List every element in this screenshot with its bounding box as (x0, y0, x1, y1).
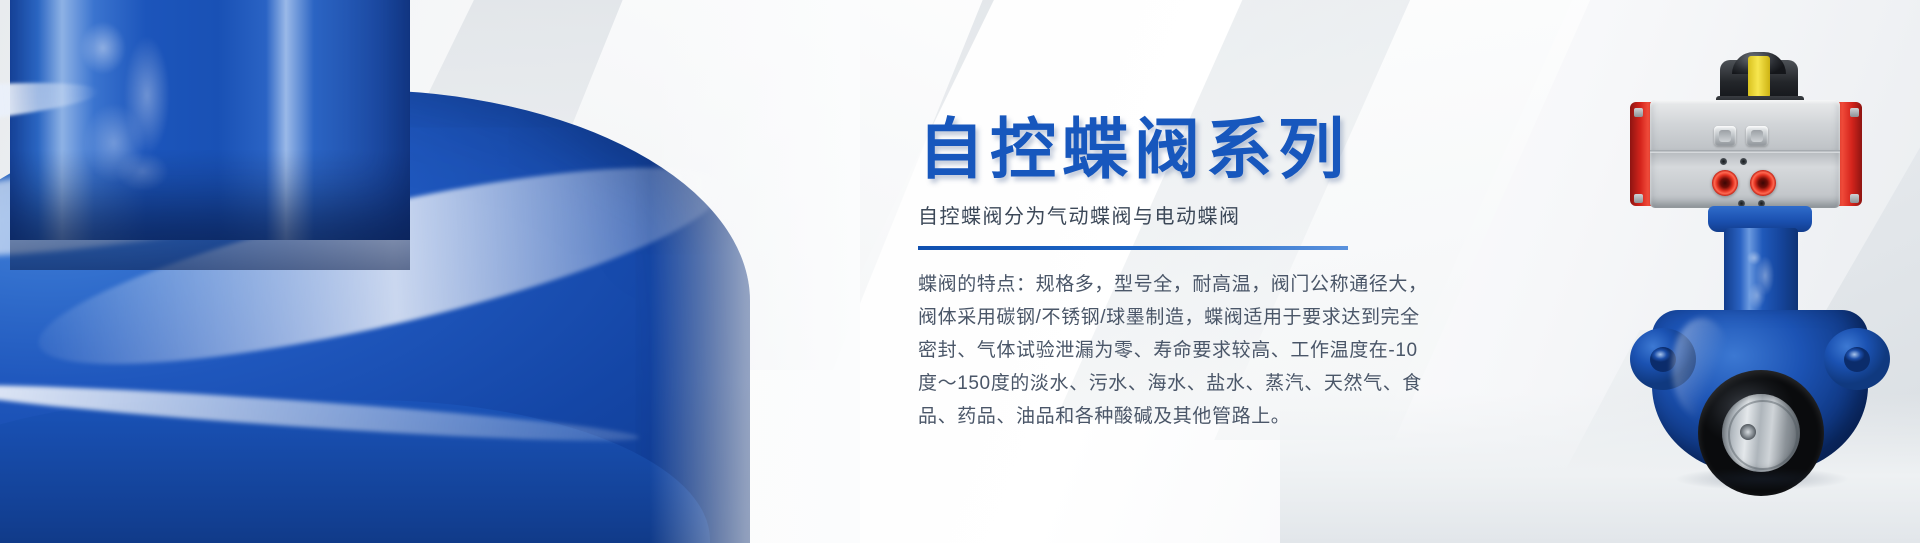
banner-copy: 自控蝶阀系列 自控蝶阀分为气动蝶阀与电动蝶阀 蝶阀的特点：规格多，型号全，耐高温… (918, 116, 1478, 433)
actuator-body-seam (1650, 150, 1840, 153)
air-port-right (1750, 170, 1776, 196)
air-port-left (1712, 170, 1738, 196)
end-cap-bolt (1850, 108, 1859, 117)
valve-neck (10, 0, 410, 240)
blue-valve-closeup-photo (0, 0, 850, 543)
disc-hub (1740, 424, 1756, 440)
valve-ground-shadow (1646, 464, 1878, 494)
title-divider (918, 246, 1348, 250)
valve-body-mass (0, 90, 750, 543)
photo-edge-blend (650, 0, 860, 543)
valve-flange-highlight (0, 74, 101, 139)
page-title: 自控蝶阀系列 (918, 116, 1478, 182)
description-line: 品、药品、油品和各种酸碱及其他管路上。 (918, 400, 1464, 433)
actuator-body (1650, 100, 1840, 208)
valve-lug-ear-right (1824, 328, 1890, 390)
disc-edge-ring (1728, 400, 1798, 470)
description-line: 密封、气体试验泄漏为零、寿命要求较高、工作温度在-10 (918, 334, 1464, 367)
pneumatic-butterfly-valve-photo (1612, 52, 1912, 472)
end-cap-bolt (1850, 194, 1859, 203)
description-line: 蝶阀的特点：规格多，型号全，耐高温，阀门公称通径大， (918, 268, 1464, 301)
actuator-pilot-hole (1740, 158, 1747, 165)
end-cap-bolt (1634, 108, 1643, 117)
end-cap-bolt (1634, 194, 1643, 203)
actuator-pilot-hole (1720, 158, 1727, 165)
product-banner: 自控蝶阀系列 自控蝶阀分为气动蝶阀与电动蝶阀 蝶阀的特点：规格多，型号全，耐高温… (0, 0, 1920, 543)
valve-body-lower-sheen (0, 376, 640, 451)
valve-body-highlight (25, 129, 734, 403)
valve-neck-texture (70, 10, 180, 200)
valve-body-lower (0, 400, 710, 543)
valve-stem-marking (1744, 248, 1778, 314)
valve-neck-shadow (10, 150, 410, 270)
valve-body-rim-highlight (0, 135, 363, 278)
banner-subtitle: 自控蝶阀分为气动蝶阀与电动蝶阀 (918, 204, 1478, 230)
hex-bolt (1714, 126, 1736, 146)
hex-bolt (1746, 126, 1768, 146)
position-indicator-yellow-flag (1748, 56, 1770, 98)
description-line: 阀体采用碳钢/不锈钢/球墨制造，蝶阀适用于要求达到完全 (918, 301, 1464, 334)
description-line: 度～150度的淡水、污水、海水、盐水、蒸汽、天然气、食 (918, 367, 1464, 400)
banner-description: 蝶阀的特点：规格多，型号全，耐高温，阀门公称通径大， 阀体采用碳钢/不锈钢/球墨… (918, 268, 1464, 433)
